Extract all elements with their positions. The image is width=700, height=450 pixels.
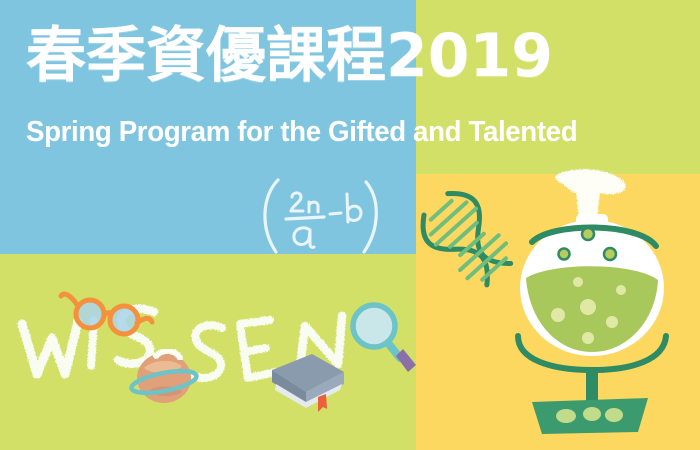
magnifying-glass-icon	[353, 305, 416, 372]
chalk-word-illustration	[8, 290, 418, 430]
page-title-chinese: 春季資優課程2019	[26, 22, 553, 90]
math-formula-illustration	[248, 172, 398, 262]
lab-flask-illustration	[496, 170, 691, 445]
page-subtitle-english: Spring Program for the Gifted and Talent…	[26, 113, 577, 151]
poster-canvas: 春季資優課程2019 Spring Program for the Gifted…	[0, 0, 700, 450]
